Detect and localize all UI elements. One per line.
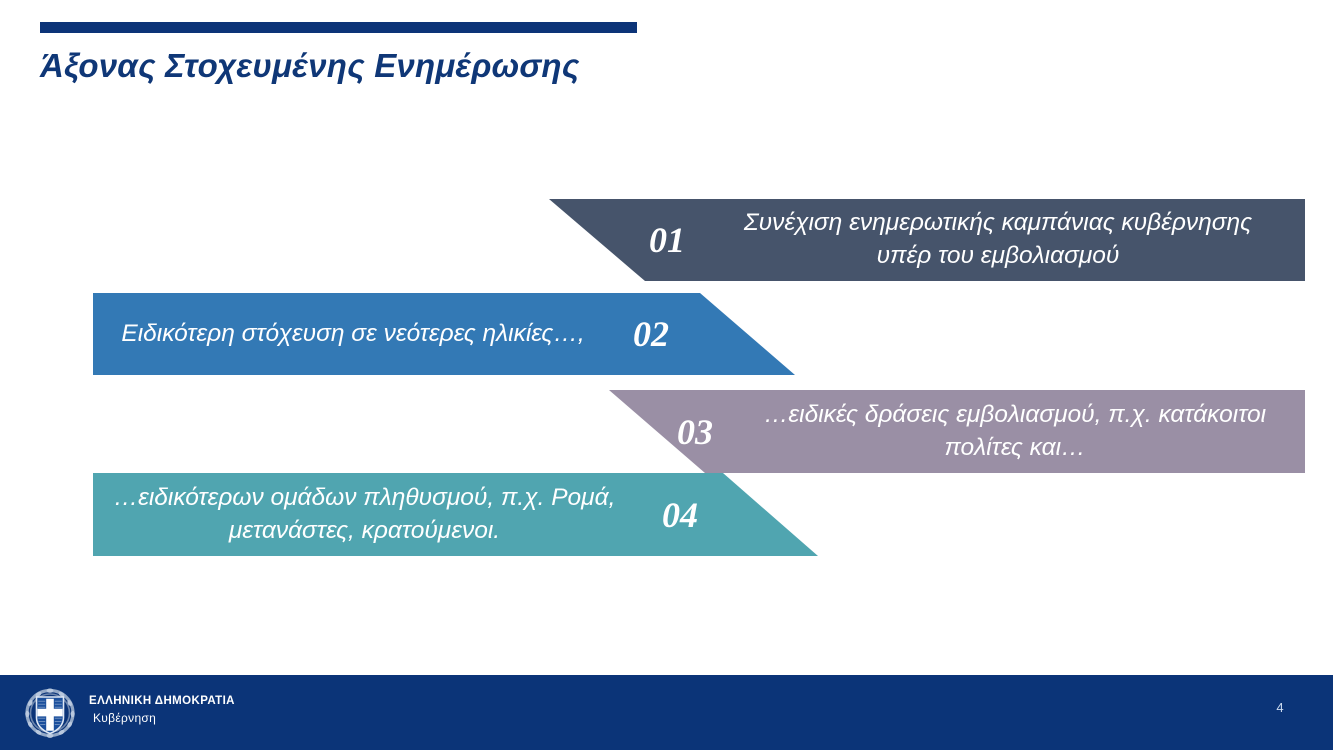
footer-line-primary: ΕΛΛΗΝΙΚΗ ΔΗΜΟΚΡΑΤΙΑ [89,694,235,708]
banner-item-02: Ειδικότερη στόχευση σε νεότερες ηλικίες…… [93,293,795,375]
slide-canvas: Άξονας Στοχευμένης Ενημέρωσης 01 Συνέχισ… [0,0,1333,750]
greek-coat-of-arms-icon [24,687,76,739]
banner-text-02: Ειδικότερη στόχευση σε νεότερες ηλικίες…… [93,318,603,351]
banner-number-03: 03 [647,414,743,450]
banner-item-04: …ειδικότερων ομάδων πληθυσμού, π.χ. Ρομά… [93,473,818,556]
banner-text-01: Συνέχιση ενημερωτικής καμπάνιας κυβέρνησ… [715,207,1305,272]
page-title: Άξονας Στοχευμένης Ενημέρωσης [40,47,940,85]
banner-item-01: 01 Συνέχιση ενημερωτικής καμπάνιας κυβέρ… [549,199,1305,281]
footer-organization: ΕΛΛΗΝΙΚΗ ΔΗΜΟΚΡΑΤΙΑ Κυβέρνηση [89,694,235,727]
banner-number-04: 04 [632,497,728,533]
banner-item-03: 03 …ειδικές δράσεις εμβολιασμού, π.χ. κα… [609,390,1305,473]
banner-number-01: 01 [619,222,715,258]
banner-number-02: 02 [603,316,699,352]
footer-line-secondary: Κυβέρνηση [93,711,235,727]
title-accent-bar [40,22,637,33]
banner-text-04: …ειδικότερων ομάδων πληθυσμού, π.χ. Ρομά… [93,482,632,547]
banner-text-03: …ειδικές δράσεις εμβολιασμού, π.χ. κατάκ… [743,399,1305,464]
page-number: 4 [1268,700,1292,715]
